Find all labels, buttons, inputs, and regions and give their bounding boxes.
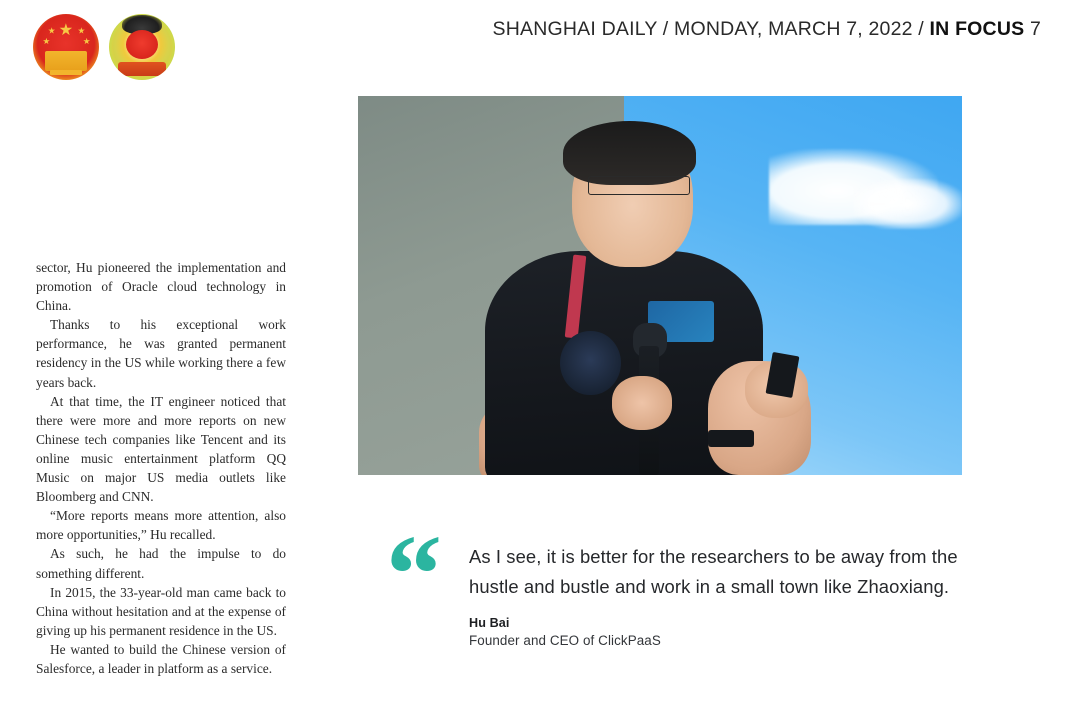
- article-paragraph: In 2015, the 33-year-old man came back t…: [36, 583, 286, 640]
- emblem-small-star: [43, 38, 50, 45]
- photo-speaker-hand-holding-mic: [612, 376, 672, 429]
- article-paragraph: “More reports means more attention, also…: [36, 506, 286, 544]
- header-separator-2: /: [913, 18, 930, 40]
- header-separator-1: /: [657, 18, 674, 40]
- header-publication: SHANGHAI DAILY: [493, 18, 658, 40]
- article-paragraph: At that time, the IT engineer noticed th…: [36, 392, 286, 507]
- emblem-base-band: [118, 62, 166, 77]
- photo-speaker-watch: [708, 430, 753, 447]
- emblem-small-star: [48, 27, 55, 34]
- national-emblem-icon: [33, 14, 99, 80]
- photo-cloud-shape: [853, 179, 962, 228]
- speaker-photograph: [358, 96, 962, 475]
- article-paragraph: sector, Hu pioneered the implementation …: [36, 258, 286, 315]
- emblem-center-disc: [126, 30, 158, 59]
- article-paragraph: He wanted to build the Chinese version o…: [36, 640, 286, 678]
- quote-mark-icon: “: [386, 534, 439, 648]
- emblem-gate-shape: [45, 51, 87, 71]
- article-body-column: sector, Hu pioneered the implementation …: [36, 258, 286, 678]
- page-number-value: 7: [1030, 18, 1041, 40]
- article-paragraph: As such, he had the impulse to do someth…: [36, 544, 286, 582]
- header-page-number: 7: [1024, 18, 1041, 40]
- page-header: SHANGHAI DAILY / MONDAY, MARCH 7, 2022 /…: [493, 18, 1041, 41]
- pull-quote-text: As I see, it is better for the researche…: [469, 542, 976, 602]
- pull-quote-body: As I see, it is better for the researche…: [469, 534, 976, 648]
- photo-speaker-glasses: [588, 176, 691, 196]
- photo-speaker-badge: [560, 331, 620, 395]
- header-date: MONDAY, MARCH 7, 2022: [674, 18, 913, 40]
- pull-quote-author-role: Founder and CEO of ClickPaaS: [469, 633, 976, 648]
- emblem-small-star: [83, 38, 90, 45]
- pull-quote-author-name: Hu Bai: [469, 616, 976, 630]
- emblem-small-star: [78, 27, 85, 34]
- masthead-emblems: [33, 14, 175, 80]
- emblem-big-star: [59, 23, 72, 36]
- pull-quote-block: “ As I see, it is better for the researc…: [386, 534, 976, 648]
- article-paragraph: Thanks to his exceptional work performan…: [36, 315, 286, 391]
- cppcc-emblem-icon: [109, 14, 175, 80]
- header-section: IN FOCUS: [930, 18, 1025, 40]
